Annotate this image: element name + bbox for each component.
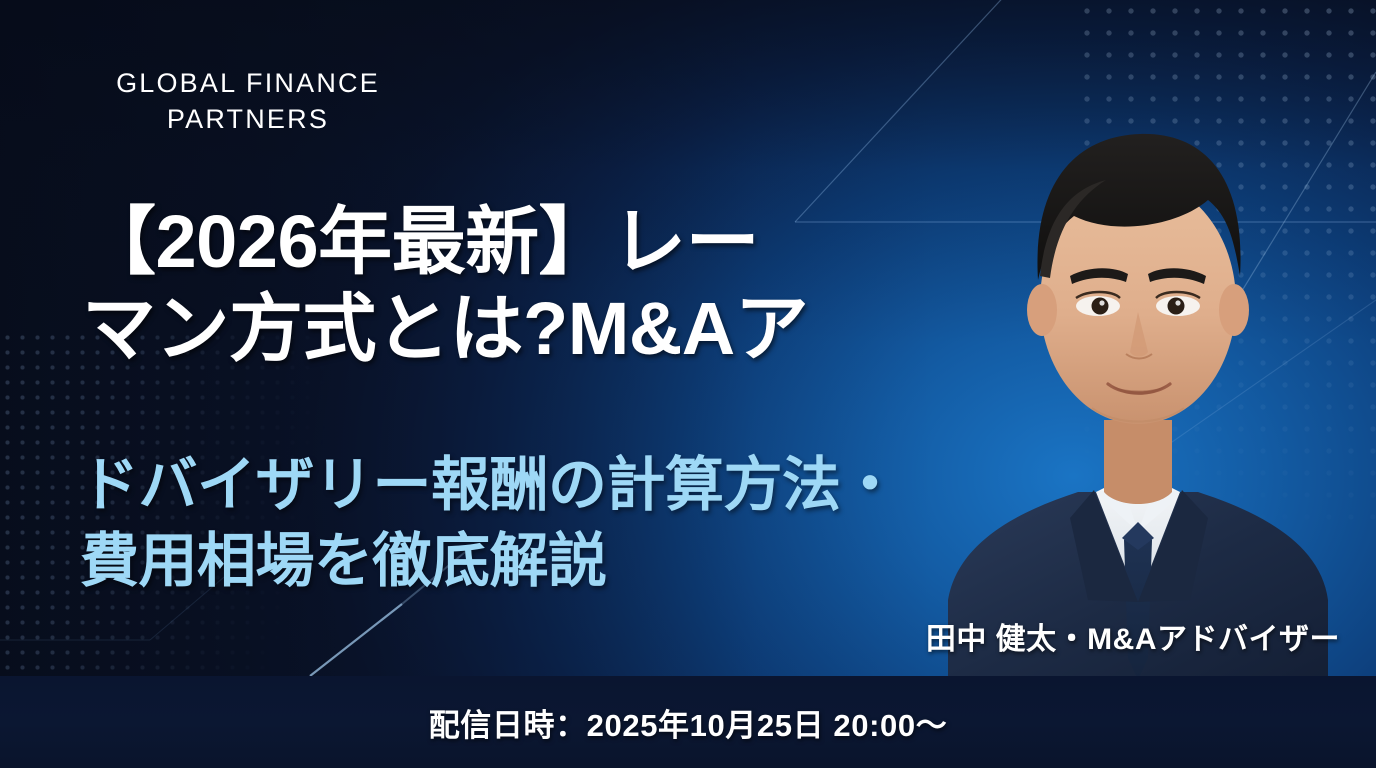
brand-logo-line-1: GLOBAL FINANCE [78, 66, 418, 102]
broadcast-bar: 配信日時：2025年10月25日 20:00〜 [0, 676, 1376, 768]
headline: 【2026年最新】レー マン方式とは?M&Aア [82, 198, 1042, 373]
broadcast-datetime: 配信日時：2025年10月25日 20:00〜 [429, 700, 948, 745]
video-thumbnail: GLOBAL FINANCE PARTNERS 【2026年最新】レー マン方式… [0, 0, 1376, 768]
speaker-credit: 田中 健太・M&Aアドバイザー [926, 614, 1340, 658]
brand-logo: GLOBAL FINANCE PARTNERS [78, 66, 418, 137]
brand-logo-line-2: PARTNERS [78, 102, 418, 138]
subheadline-line-2: 費用相場を徹底解説 [80, 524, 1070, 600]
headline-line-1: 【2026年最新】レー [82, 198, 1042, 285]
subheadline: ドバイザリー報酬の計算方法・ 費用相場を徹底解説 [80, 448, 1070, 599]
headline-line-2: マン方式とは?M&Aア [82, 285, 1042, 372]
subheadline-line-1: ドバイザリー報酬の計算方法・ [80, 448, 1070, 524]
